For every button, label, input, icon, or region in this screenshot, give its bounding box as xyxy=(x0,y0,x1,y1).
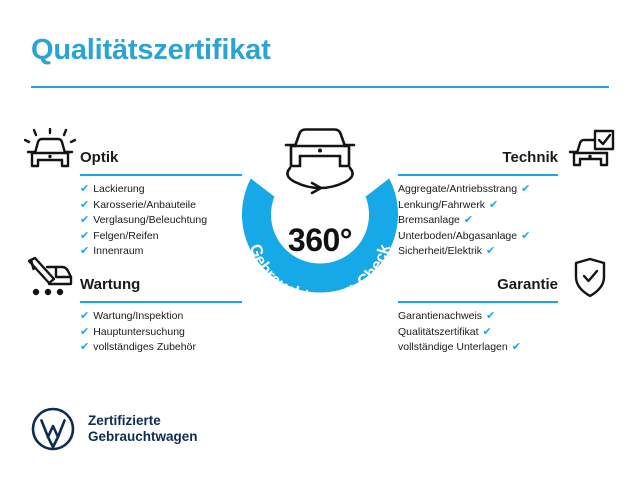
check-icon: ✔ xyxy=(80,325,89,341)
page-title: Qualitätszertifikat xyxy=(31,34,271,67)
checklist-garantie: ✔Garantienachweis ✔Qualitätszertifikat ✔… xyxy=(398,309,616,356)
section-underline xyxy=(80,174,242,176)
car-rotate-360-icon xyxy=(286,130,354,194)
list-item: ✔vollständige Unterlagen xyxy=(398,340,616,356)
check-icon: ✔ xyxy=(464,213,473,229)
car-shine-icon xyxy=(24,128,76,174)
list-item: ✔Felgen/Reifen xyxy=(24,229,242,245)
section-underline xyxy=(80,301,242,303)
check-icon: ✔ xyxy=(80,340,89,356)
header-divider xyxy=(31,86,609,88)
section-header: Garantie xyxy=(398,255,616,303)
checklist-wartung: ✔Wartung/Inspektion ✔Hauptuntersuchung ✔… xyxy=(24,309,242,356)
list-item-label: Wartung/Inspektion xyxy=(93,309,183,325)
section-title: Optik xyxy=(80,149,118,166)
list-item-label: Aggregate/Antriebsstrang xyxy=(398,182,517,198)
checklist-optik: ✔Lackierung ✔Karosserie/Anbauteile ✔Verg… xyxy=(24,182,242,260)
list-item: ✔Lenkung/Fahrwerk xyxy=(398,198,616,214)
vw-brand-lockup: Zertifizierte Gebrauchtwagen xyxy=(31,407,198,451)
section-title: Technik xyxy=(502,149,558,166)
check-icon: ✔ xyxy=(489,198,498,214)
section-title: Garantie xyxy=(497,276,558,293)
badge-360-gebrauchtwagen-check: Gebrauchtwagen-Check 360° xyxy=(226,118,414,310)
section-garantie: Garantie ✔Garantienachweis ✔Qualitätszer… xyxy=(398,255,616,356)
section-underline xyxy=(398,174,558,176)
list-item: ✔vollständiges Zubehör xyxy=(24,340,242,356)
checklist-technik: ✔Aggregate/Antriebsstrang ✔Lenkung/Fahrw… xyxy=(398,182,616,260)
section-header: Technik xyxy=(398,128,616,176)
certificate-page: Qualitätszertifikat xyxy=(0,0,640,480)
vw-logo xyxy=(31,407,75,451)
list-item: ✔Bremsanlage xyxy=(398,213,616,229)
list-item-label: Qualitätszertifikat xyxy=(398,325,479,341)
section-underline xyxy=(398,301,558,303)
car-checkbox-icon xyxy=(564,128,616,174)
list-item-label: vollständige Unterlagen xyxy=(398,340,508,356)
check-icon: ✔ xyxy=(80,198,89,214)
check-icon: ✔ xyxy=(80,213,89,229)
list-item-label: Hauptuntersuchung xyxy=(93,325,185,341)
section-header: Wartung xyxy=(24,255,242,303)
check-icon: ✔ xyxy=(483,325,492,341)
section-optik: Optik ✔Lackierung ✔Karosserie/Anbauteile… xyxy=(24,128,242,260)
car-service-pen-icon xyxy=(24,255,76,301)
check-icon: ✔ xyxy=(521,229,530,245)
shield-check-icon xyxy=(564,255,616,301)
list-item: ✔Lackierung xyxy=(24,182,242,198)
list-item: ✔Garantienachweis xyxy=(398,309,616,325)
list-item-label: Verglasung/Beleuchtung xyxy=(93,213,207,229)
list-item-label: Felgen/Reifen xyxy=(93,229,158,245)
section-technik: Technik ✔Aggregate/Antriebsstrang ✔Lenku… xyxy=(398,128,616,260)
check-icon: ✔ xyxy=(80,182,89,198)
section-header: Optik xyxy=(24,128,242,176)
list-item: ✔Hauptuntersuchung xyxy=(24,325,242,341)
list-item: ✔Aggregate/Antriebsstrang xyxy=(398,182,616,198)
list-item: ✔Karosserie/Anbauteile xyxy=(24,198,242,214)
check-icon: ✔ xyxy=(80,229,89,245)
check-icon: ✔ xyxy=(512,340,521,356)
list-item-label: vollständiges Zubehör xyxy=(93,340,196,356)
list-item: ✔Verglasung/Beleuchtung xyxy=(24,213,242,229)
check-icon: ✔ xyxy=(521,182,530,198)
check-icon: ✔ xyxy=(80,309,89,325)
section-wartung: Wartung ✔Wartung/Inspektion ✔Hauptunters… xyxy=(24,255,242,356)
list-item-label: Garantienachweis xyxy=(398,309,482,325)
section-title: Wartung xyxy=(80,276,140,293)
check-icon: ✔ xyxy=(486,309,495,325)
list-item-label: Lackierung xyxy=(93,182,144,198)
list-item-label: Karosserie/Anbauteile xyxy=(93,198,196,214)
list-item: ✔Qualitätszertifikat xyxy=(398,325,616,341)
vw-brand-text: Zertifizierte Gebrauchtwagen xyxy=(88,413,198,445)
list-item: ✔Wartung/Inspektion xyxy=(24,309,242,325)
list-item-label: Unterboden/Abgasanlage xyxy=(398,229,517,245)
list-item: ✔Unterboden/Abgasanlage xyxy=(398,229,616,245)
